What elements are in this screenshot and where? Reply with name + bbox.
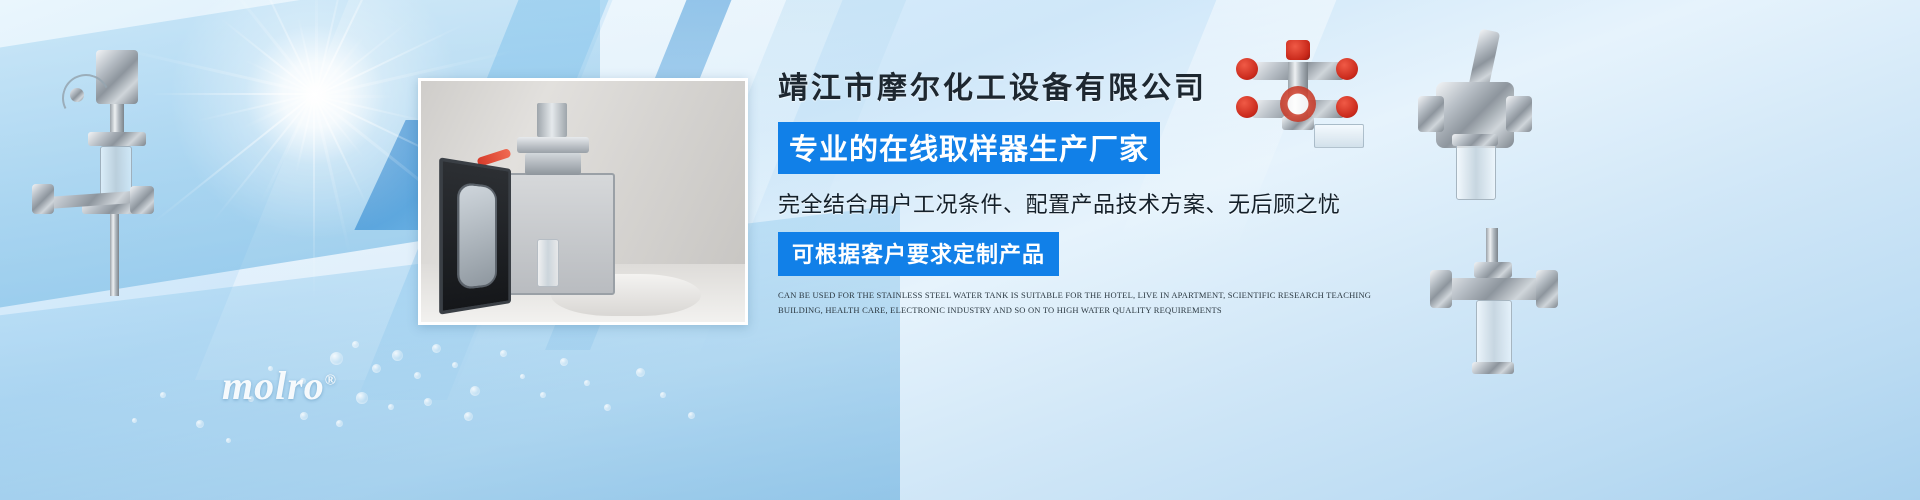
watermark-logo: molro® <box>222 362 337 409</box>
promotional-banner: 靖江市摩尔化工设备有限公司 专业的在线取样器生产厂家 完全结合用户工况条件、配置… <box>0 0 1920 500</box>
tagline-primary-badge: 专业的在线取样器生产厂家 <box>778 122 1160 174</box>
tagline-secondary: 完全结合用户工况条件、配置产品技术方案、无后顾之忧 <box>778 187 1418 219</box>
right-upper-equipment-lever-sampler <box>1412 30 1532 220</box>
right-lower-equipment-inline-valve <box>1430 228 1560 388</box>
registered-trademark-icon: ® <box>325 373 337 389</box>
headline-text-block: 靖江市摩尔化工设备有限公司 专业的在线取样器生产厂家 完全结合用户工况条件、配置… <box>778 70 1418 319</box>
product-photo-online-sampler <box>418 78 748 325</box>
english-description: CAN BE USED FOR THE STAINLESS STEEL WATE… <box>778 288 1378 319</box>
company-title: 靖江市摩尔化工设备有限公司 <box>778 70 1418 108</box>
watermark-logo-text: molro <box>222 363 325 408</box>
tagline-custom-badge: 可根据客户要求定制产品 <box>778 232 1059 276</box>
left-equipment-sampling-valve-assembly <box>18 28 158 298</box>
